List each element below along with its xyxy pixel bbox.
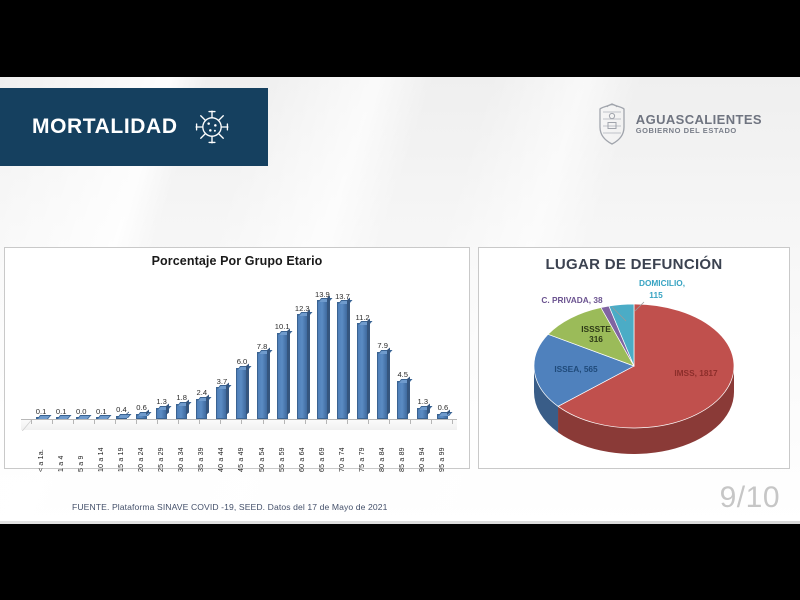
bar-shape	[417, 408, 428, 419]
category-label: 5 a 9	[78, 432, 85, 472]
bar-item: 1.3	[413, 274, 433, 419]
axis-tick	[178, 420, 179, 424]
pie-chart-title: LUGAR DE DEFUNCIÓN	[479, 256, 789, 273]
pie-chart-plot: IMSS, 1817ISSEA, 565ISSSTE316C. PRIVADA,…	[479, 278, 789, 468]
bar-value-label: 0.4	[116, 405, 127, 414]
bar-item: 1.8	[172, 274, 192, 419]
category-label-cell: 40 a 44	[212, 432, 232, 472]
category-label-cell: 5 a 9	[71, 432, 91, 472]
category-label-cell: 55 a 59	[272, 432, 292, 472]
bar-shape	[397, 381, 408, 419]
category-label: 55 a 59	[279, 432, 286, 472]
category-label-cell: 95 a 99	[433, 432, 453, 472]
bar-shape	[357, 323, 368, 419]
pie-slice-label: 316	[589, 334, 603, 344]
category-label-cell: 10 a 14	[91, 432, 111, 472]
bar-series: 0.10.10.00.10.40.61.31.82.43.76.07.810.1…	[31, 274, 453, 419]
axis-tick	[410, 420, 411, 424]
bar-shape	[317, 300, 328, 419]
bar-item: 0.4	[111, 274, 131, 419]
category-label-cell: 90 a 94	[413, 432, 433, 472]
category-label: 70 a 74	[339, 432, 346, 472]
category-label: 1 a 4	[58, 432, 65, 472]
logo-line-1: AGUASCALIENTES	[636, 113, 762, 127]
category-label-cell: 15 a 19	[111, 432, 131, 472]
presentation-slide: MORTALIDAD	[0, 77, 800, 524]
bar-chart-panel: Porcentaje Por Grupo Etario 0.10.10.00.1…	[4, 247, 470, 469]
bar-shape	[216, 387, 227, 419]
category-label-cell: 1 a 4	[51, 432, 71, 472]
bar-item: 0.1	[31, 274, 51, 419]
category-label: 45 a 49	[238, 432, 245, 472]
bar-chart-category-labels: < a 1a.1 a 45 a 910 a 1415 a 1920 a 2425…	[31, 432, 453, 472]
axis-tick	[347, 420, 348, 424]
category-label-cell: 85 a 89	[393, 432, 413, 472]
axis-tick	[284, 420, 285, 424]
bar-item: 6.0	[232, 274, 252, 419]
bar-chart-title: Porcentaje Por Grupo Etario	[5, 254, 469, 268]
category-label: 35 a 39	[198, 432, 205, 472]
bar-shape	[297, 314, 308, 419]
category-label: < a 1a.	[38, 432, 45, 472]
pie-chart-panel: LUGAR DE DEFUNCIÓN IMSS, 1817ISSEA, 565I…	[478, 247, 790, 469]
bar-item: 0.1	[51, 274, 71, 419]
page-number: 9/10	[720, 481, 780, 515]
category-label-cell: < a 1a.	[31, 432, 51, 472]
footer-divider	[0, 521, 800, 524]
bar-shape	[176, 404, 187, 419]
bar-item: 10.1	[272, 274, 292, 419]
category-label: 95 a 99	[439, 432, 446, 472]
bar-shape	[337, 302, 348, 419]
category-label: 30 a 34	[178, 432, 185, 472]
letterbox-bottom	[0, 524, 800, 600]
category-label: 65 a 69	[319, 432, 326, 472]
category-label-cell: 80 a 84	[373, 432, 393, 472]
axis-tick	[199, 420, 200, 424]
category-label: 75 a 79	[359, 432, 366, 472]
slide-title-banner: MORTALIDAD	[0, 88, 268, 166]
category-label-cell: 20 a 24	[131, 432, 151, 472]
axis-tick	[157, 420, 158, 424]
category-label-cell: 35 a 39	[192, 432, 212, 472]
category-label: 50 a 54	[259, 432, 266, 472]
category-label-cell: 45 a 49	[232, 432, 252, 472]
category-label-cell: 65 a 69	[312, 432, 332, 472]
bar-item: 7.9	[373, 274, 393, 419]
bar-item: 0.6	[131, 274, 151, 419]
axis-tick	[115, 420, 116, 424]
category-label-cell: 70 a 74	[332, 432, 352, 472]
bar-item: 2.4	[192, 274, 212, 419]
bar-shape	[156, 408, 167, 419]
category-label: 25 a 29	[158, 432, 165, 472]
category-label-cell: 50 a 54	[252, 432, 272, 472]
pie-slice-label: ISSEA, 565	[554, 364, 598, 374]
axis-tick	[73, 420, 74, 424]
letterbox-top	[0, 0, 800, 77]
pie-slice-label: C. PRIVADA, 38	[541, 295, 603, 305]
category-label: 20 a 24	[138, 432, 145, 472]
bar-chart-plot: 0.10.10.00.10.40.61.31.82.43.76.07.810.1…	[13, 274, 463, 464]
pie-chart-svg: IMSS, 1817ISSEA, 565ISSSTE316C. PRIVADA,…	[484, 278, 784, 463]
bar-item: 1.3	[152, 274, 172, 419]
coronavirus-icon	[192, 107, 232, 147]
government-logo: AGUASCALIENTES GOBIERNO DEL ESTADO	[597, 103, 762, 145]
category-label: 80 a 84	[379, 432, 386, 472]
bar-item: 7.8	[252, 274, 272, 419]
category-label: 40 a 44	[218, 432, 225, 472]
category-label: 60 a 64	[299, 432, 306, 472]
pie-slice-label: IMSS, 1817	[674, 368, 718, 378]
bar-item: 13.9	[312, 274, 332, 419]
bar-item: 0.1	[91, 274, 111, 419]
axis-tick	[431, 420, 432, 424]
axis-tick	[452, 420, 453, 424]
axis-tick	[52, 420, 53, 424]
bar-item: 4.5	[393, 274, 413, 419]
category-label: 90 a 94	[419, 432, 426, 472]
bar-chart-ticks	[31, 420, 453, 425]
bar-shape	[377, 352, 388, 419]
bar-shape	[196, 399, 207, 419]
category-label: 15 a 19	[118, 432, 125, 472]
bar-item: 0.0	[71, 274, 91, 419]
bar-item: 13.7	[332, 274, 352, 419]
source-note: FUENTE. Plataforma SINAVE COVID -19, SEE…	[72, 502, 388, 512]
axis-tick	[263, 420, 264, 424]
axis-tick	[94, 420, 95, 424]
category-label: 10 a 14	[98, 432, 105, 472]
page-title: MORTALIDAD	[32, 115, 178, 139]
bar-item: 11.2	[353, 274, 373, 419]
axis-tick	[305, 420, 306, 424]
axis-tick	[136, 420, 137, 424]
bar-item: 12.3	[292, 274, 312, 419]
bar-item: 3.7	[212, 274, 232, 419]
pie-slice-label: 115	[649, 290, 663, 300]
category-label-cell: 60 a 64	[292, 432, 312, 472]
bar-shape	[257, 352, 268, 419]
pie-slice-label: DOMICILIO,	[639, 278, 685, 288]
pie-slice-label: ISSSTE	[581, 324, 611, 334]
axis-tick	[241, 420, 242, 424]
bar-shape	[236, 368, 247, 419]
category-label: 85 a 89	[399, 432, 406, 472]
aguascalientes-crest-icon	[597, 103, 627, 145]
axis-tick	[220, 420, 221, 424]
bar-item: 0.6	[433, 274, 453, 419]
category-label-cell: 25 a 29	[152, 432, 172, 472]
axis-tick	[368, 420, 369, 424]
logo-line-2: GOBIERNO DEL ESTADO	[636, 127, 762, 135]
axis-tick	[389, 420, 390, 424]
axis-tick	[31, 420, 32, 424]
category-label-cell: 30 a 34	[172, 432, 192, 472]
axis-tick	[326, 420, 327, 424]
bar-shape	[277, 333, 288, 419]
category-label-cell: 75 a 79	[353, 432, 373, 472]
